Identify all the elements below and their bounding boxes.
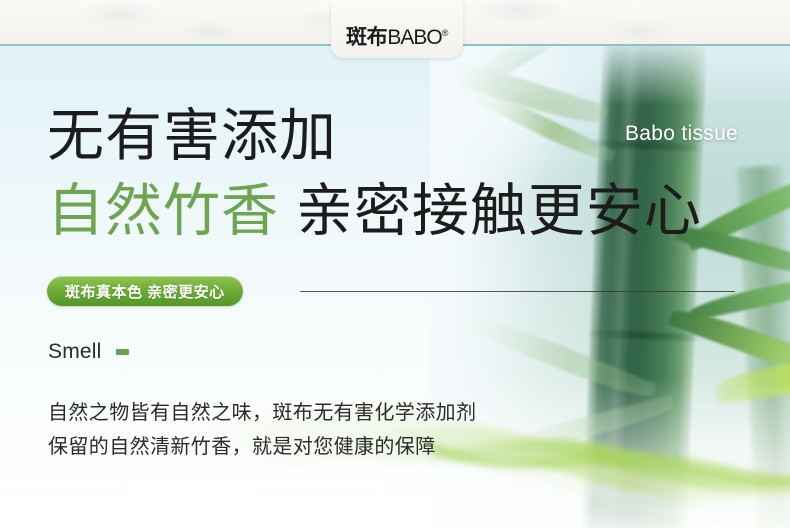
body-paragraph: 自然之物皆有自然之味，斑布无有害化学添加剂 保留的自然清新竹香，就是对您健康的保…	[48, 396, 476, 464]
dash-icon	[116, 349, 129, 355]
slogan-badge: 斑布真本色 亲密更安心	[47, 276, 243, 306]
brand-logo[interactable]: 斑布BABO®	[331, 0, 463, 58]
brand-logo-cn: 斑布	[346, 26, 387, 49]
bamboo-photo	[430, 46, 790, 528]
section-smell: Smell	[48, 340, 129, 364]
brand-logo-text: 斑布BABO®	[346, 27, 448, 48]
registered-mark-icon: ®	[442, 28, 448, 38]
slogan-badge-label: 斑布真本色 亲密更安心	[65, 281, 225, 302]
brand-logo-latin: BABO	[387, 26, 441, 49]
body-paragraph-line-1: 自然之物皆有自然之味，斑布无有害化学添加剂	[48, 396, 476, 430]
headline-line-2-dark: 亲密接触更安心	[279, 179, 702, 243]
headline-line-2-green: 自然竹香	[47, 179, 279, 243]
product-banner: 斑布BABO® 无有害添加 自然竹香 亲密接触更安心 斑布真本色 亲密更安心 S…	[0, 0, 790, 528]
photo-watermark: Babo tissue	[625, 122, 738, 146]
badge-divider-rule	[300, 291, 735, 292]
body-paragraph-line-2: 保留的自然清新竹香，就是对您健康的保障	[48, 430, 476, 464]
section-smell-label: Smell	[48, 340, 102, 364]
photo-fade-bottom	[430, 378, 790, 528]
headline-line-2: 自然竹香 亲密接触更安心	[47, 183, 702, 240]
headline-line-1: 无有害添加	[47, 108, 337, 165]
